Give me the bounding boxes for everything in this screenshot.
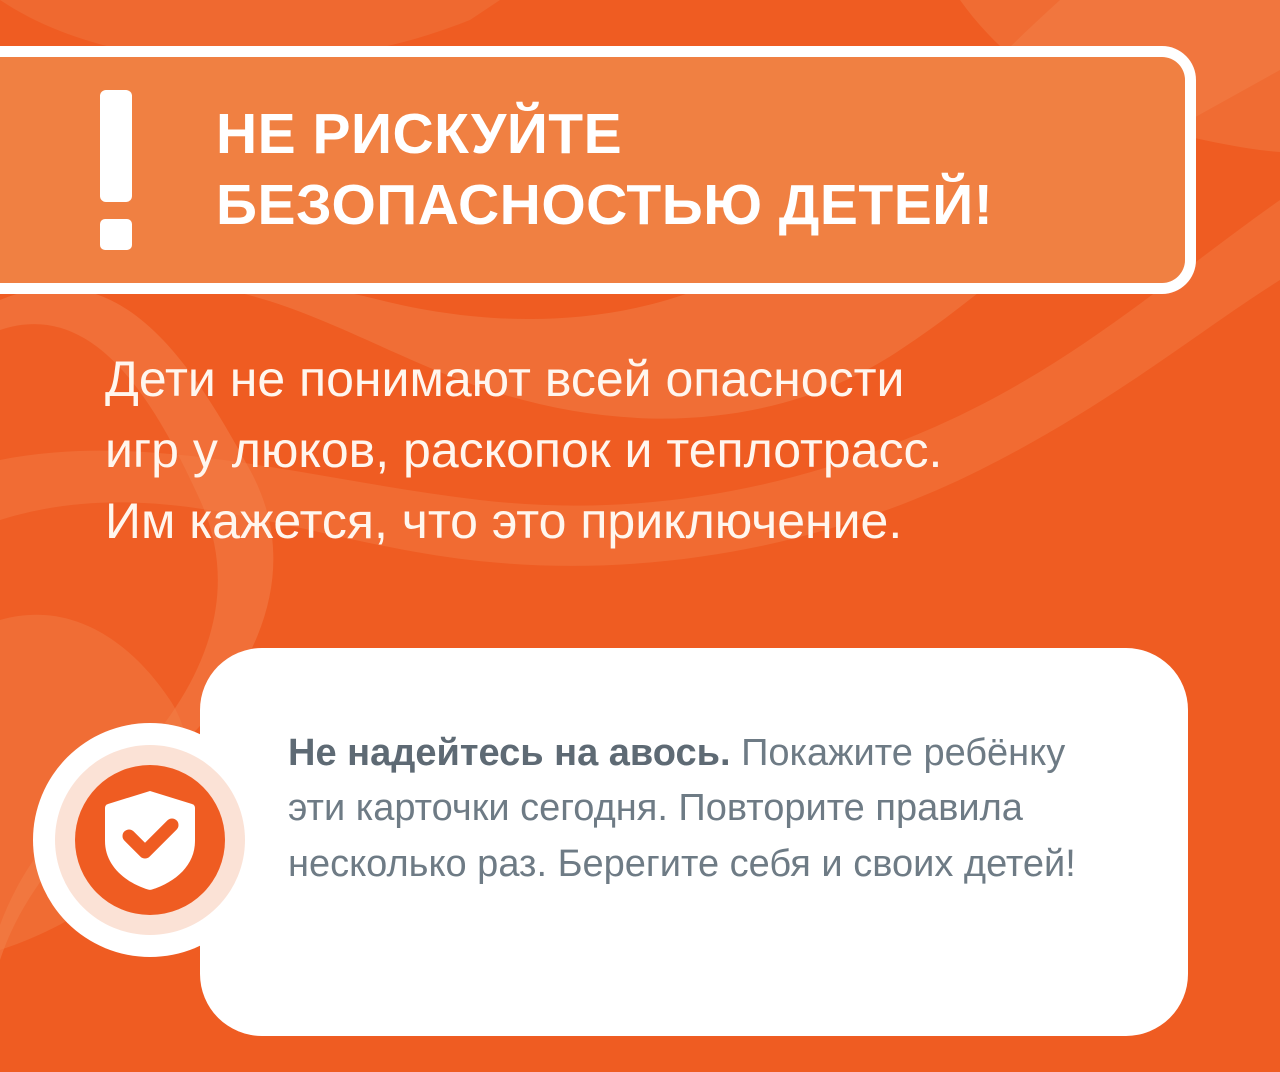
lead-paragraph: Дети не понимают всей опасности игр у лю… (105, 344, 1205, 557)
page-title: НЕ РИСКУЙТЕ БЕЗОПАСНОСТЬЮ ДЕТЕЙ! (216, 99, 993, 242)
warning-banner-content: НЕ РИСКУЙТЕ БЕЗОПАСНОСТЬЮ ДЕТЕЙ! (0, 90, 1185, 250)
exclamation-stem (100, 90, 132, 202)
warning-banner: НЕ РИСКУЙТЕ БЕЗОПАСНОСТЬЮ ДЕТЕЙ! (0, 46, 1196, 294)
exclamation-mark-icon (100, 90, 132, 250)
exclamation-dot (100, 219, 132, 250)
safety-poster: НЕ РИСКУЙТЕ БЕЗОПАСНОСТЬЮ ДЕТЕЙ! Дети не… (0, 0, 1280, 1072)
shield-glyph (102, 789, 198, 891)
advice-text: Не надейтесь на авось. Покажите ребёнку … (288, 726, 1108, 892)
shield-check-icon (55, 745, 245, 935)
advice-text-strong: Не надейтесь на авось. (288, 732, 731, 774)
